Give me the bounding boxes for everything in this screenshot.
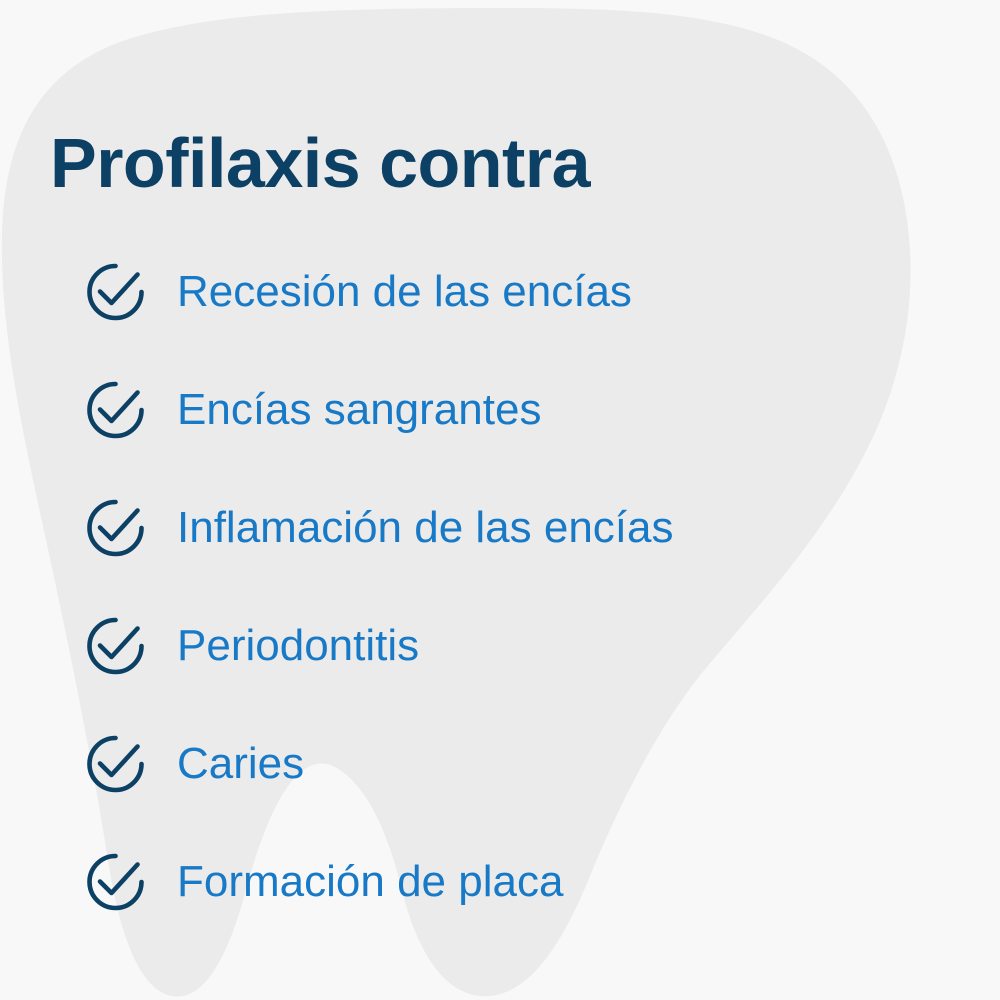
list-item-label: Periodontitis xyxy=(177,620,419,672)
list-item[interactable]: Inflamación de las encías xyxy=(80,469,980,587)
list-item-label: Recesión de las encías xyxy=(177,266,632,318)
page-title: Profilaxis contra xyxy=(50,123,590,203)
content-layer: Profilaxis contra Recesión de las encías… xyxy=(0,0,1000,1000)
list-item[interactable]: Encías sangrantes xyxy=(80,351,980,469)
list-item-label: Encías sangrantes xyxy=(177,384,541,436)
poster-canvas: Profilaxis contra Recesión de las encías… xyxy=(0,0,1000,1000)
list-item[interactable]: Formación de placa xyxy=(80,823,980,941)
list-item-label: Formación de placa xyxy=(177,856,563,908)
check-circle-icon xyxy=(80,847,150,917)
check-circle-icon xyxy=(80,493,150,563)
list-item[interactable]: Caries xyxy=(80,705,980,823)
check-circle-icon xyxy=(80,729,150,799)
list-item[interactable]: Recesión de las encías xyxy=(80,233,980,351)
list-item-label: Caries xyxy=(177,738,304,790)
list-item-label: Inflamación de las encías xyxy=(177,502,674,554)
benefit-list: Recesión de las encías Encías sangrantes… xyxy=(80,233,980,941)
check-circle-icon xyxy=(80,257,150,327)
check-circle-icon xyxy=(80,611,150,681)
list-item[interactable]: Periodontitis xyxy=(80,587,980,705)
check-circle-icon xyxy=(80,375,150,445)
